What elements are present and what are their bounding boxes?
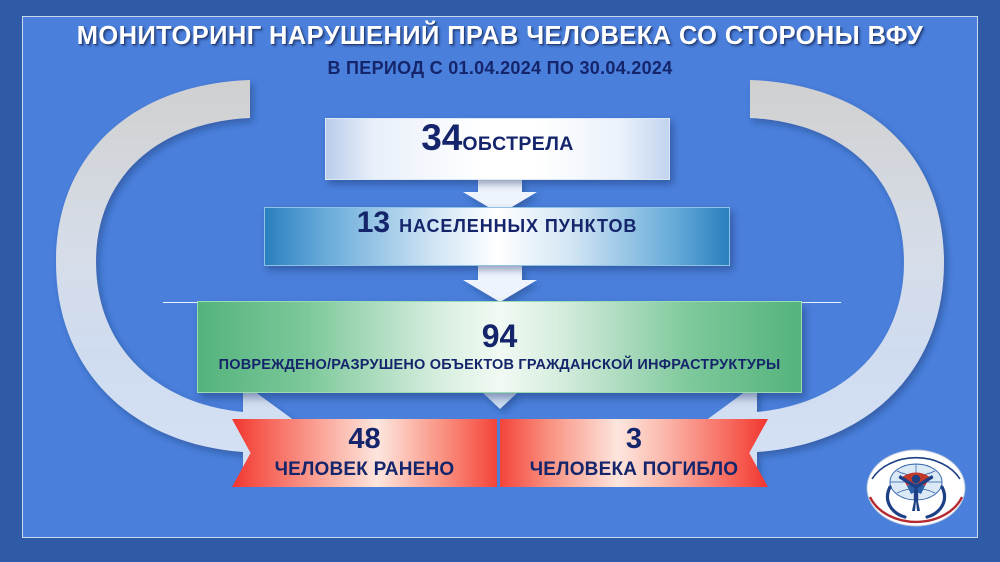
ombudsman-emblem-icon — [866, 449, 966, 527]
stat-label-settlements: НАСЕЛЕННЫХ ПУНКТОВ — [399, 216, 637, 236]
stat-value-settlements: 13 — [357, 208, 390, 238]
stat-label-wounded: ЧЕЛОВЕК РАНЕНО — [275, 459, 455, 481]
stat-box-shellings: 34 ОБСТРЕЛА — [325, 118, 670, 180]
stat-box-wounded: 48 ЧЕЛОВЕК РАНЕНО — [232, 419, 497, 487]
title-block: МОНИТОРИНГ НАРУШЕНИЙ ПРАВ ЧЕЛОВЕКА СО СТ… — [0, 22, 1000, 79]
stat-label-infrastructure: ПОВРЕЖДЕНО/РАЗРУШЕНО ОБЪЕКТОВ ГРАЖДАНСКО… — [219, 357, 781, 373]
stat-value-wounded: 48 — [348, 425, 380, 454]
tick-line-left — [163, 302, 199, 303]
stat-label-killed: ЧЕЛОВЕКА ПОГИБЛО — [530, 459, 738, 481]
stat-value-infrastructure: 94 — [482, 320, 518, 352]
stat-box-infrastructure: 94 ПОВРЕЖДЕНО/РАЗРУШЕНО ОБЪЕКТОВ ГРАЖДАН… — [197, 301, 802, 393]
stat-box-killed: 3 ЧЕЛОВЕКА ПОГИБЛО — [500, 419, 768, 487]
infographic-poster: МОНИТОРИНГ НАРУШЕНИЙ ПРАВ ЧЕЛОВЕКА СО СТ… — [0, 0, 1000, 562]
page-subtitle: В ПЕРИОД С 01.04.2024 ПО 30.04.2024 — [0, 58, 1000, 79]
stat-label-shellings: ОБСТРЕЛА — [462, 134, 573, 156]
stat-box-settlements: 13 НАСЕЛЕННЫХ ПУНКТОВ — [264, 207, 730, 266]
tick-line-right — [801, 302, 841, 303]
stat-value-killed: 3 — [626, 425, 642, 454]
stat-value-shellings: 34 — [421, 119, 462, 156]
page-title: МОНИТОРИНГ НАРУШЕНИЙ ПРАВ ЧЕЛОВЕКА СО СТ… — [0, 22, 1000, 51]
